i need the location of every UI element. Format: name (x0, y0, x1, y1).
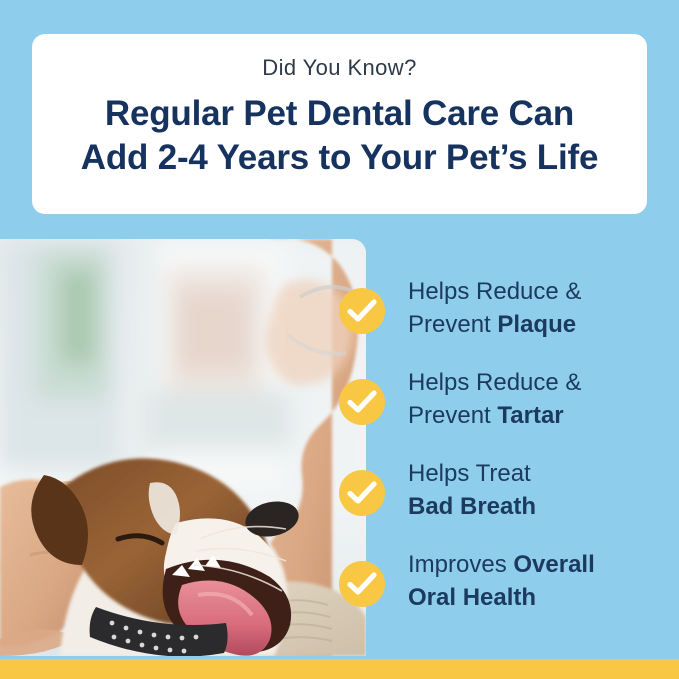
benefit-line-1-plain: Improves (408, 551, 513, 578)
benefits-list: Helps Reduce & Prevent Plaque Helps Redu… (339, 270, 669, 634)
benefit-text: Helps Reduce & Prevent Plaque (408, 270, 581, 341)
benefit-line-2-plain: Prevent (408, 402, 497, 429)
benefit-text: Improves Overall Oral Health (408, 543, 595, 614)
benefit-text: Helps Reduce & Prevent Tartar (408, 361, 581, 432)
check-icon (339, 561, 385, 607)
list-item: Helps Treat Bad Breath (339, 452, 669, 543)
benefit-line-1: Improves Overall (408, 549, 595, 582)
benefit-line-2: Prevent Plaque (408, 309, 581, 342)
benefit-line-2-bold: Tartar (497, 402, 563, 429)
benefit-line-2: Bad Breath (408, 491, 536, 524)
benefit-line-2: Oral Health (408, 582, 595, 615)
list-item: Helps Reduce & Prevent Tartar (339, 361, 669, 452)
benefit-line-1: Helps Reduce & (408, 367, 581, 400)
benefit-line-1: Helps Treat (408, 458, 536, 491)
promo-graphic: Did You Know? Regular Pet Dental Care Ca… (0, 0, 679, 679)
benefit-line-2-bold: Plaque (497, 311, 576, 338)
benefit-line-2: Prevent Tartar (408, 400, 581, 433)
dog-and-owner-photo (0, 239, 366, 656)
benefit-line-1: Helps Reduce & (408, 276, 581, 309)
benefit-line-2-bold: Bad Breath (408, 493, 536, 520)
headline-line-1: Regular Pet Dental Care Can (81, 92, 598, 136)
list-item: Improves Overall Oral Health (339, 543, 669, 634)
headline-card: Did You Know? Regular Pet Dental Care Ca… (32, 34, 647, 214)
eyebrow-text: Did You Know? (262, 54, 416, 82)
benefit-line-2-bold: Oral Health (408, 584, 536, 611)
list-item: Helps Reduce & Prevent Plaque (339, 270, 669, 361)
benefit-text: Helps Treat Bad Breath (408, 452, 536, 523)
bottom-accent-bar (0, 659, 679, 679)
benefit-line-2-plain: Prevent (408, 311, 497, 338)
headline-line-2: Add 2-4 Years to Your Pet’s Life (81, 136, 598, 180)
check-icon (339, 288, 385, 334)
benefit-line-1-bold: Overall (513, 551, 594, 578)
check-icon (339, 470, 385, 516)
check-icon (339, 379, 385, 425)
page-title: Regular Pet Dental Care Can Add 2-4 Year… (81, 92, 598, 180)
